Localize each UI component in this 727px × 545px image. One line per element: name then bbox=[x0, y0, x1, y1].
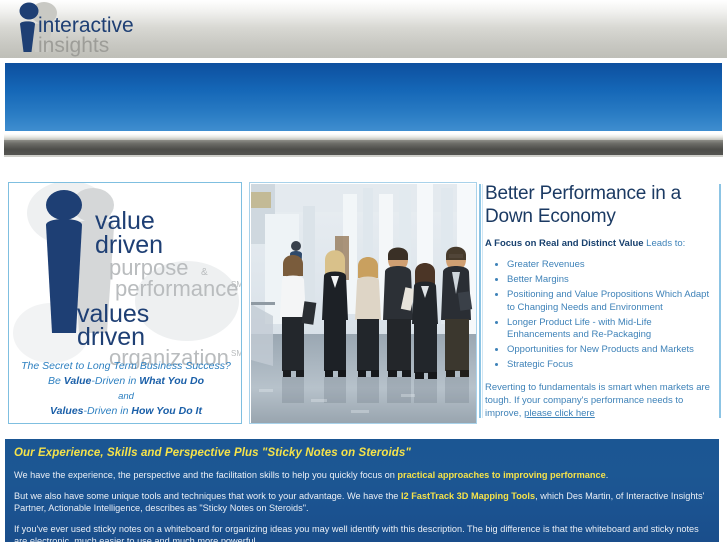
list-item: Longer Product Life - with Mid-Life Enha… bbox=[507, 317, 715, 342]
corridor-photo-panel bbox=[249, 182, 477, 424]
tagline-line-4: Values-Driven in How You Do It bbox=[9, 404, 242, 419]
panel-left-rule bbox=[479, 184, 481, 418]
site-logo[interactable]: interactive insights bbox=[4, 0, 134, 58]
list-item: Strategic Focus bbox=[507, 359, 715, 372]
value-driven-tagline: The Secret to Long Term Business Success… bbox=[9, 359, 242, 419]
value-driven-graphic: value driven purpose & performance SM va… bbox=[9, 183, 242, 369]
para1-b: . bbox=[606, 470, 609, 480]
experience-paragraph-1: We have the experience, the perspective … bbox=[14, 469, 710, 481]
tagline-4-a: Values bbox=[50, 405, 83, 417]
tagline-4-b: -Driven in bbox=[84, 405, 132, 417]
experience-section: Our Experience, Skills and Perspective P… bbox=[4, 438, 720, 543]
list-item: Better Margins bbox=[507, 274, 715, 287]
list-item: Greater Revenues bbox=[507, 259, 715, 272]
list-item: Positioning and Value Propositions Which… bbox=[507, 289, 715, 314]
header-nav-bar bbox=[4, 140, 723, 157]
tagline-line-1: The Secret to Long Term Business Success… bbox=[9, 359, 242, 374]
performance-footer-text: Reverting to fundamentals is smart when … bbox=[485, 382, 710, 419]
corridor-photo bbox=[251, 184, 477, 424]
para1-bold: practical approaches to improving perfor… bbox=[397, 470, 605, 480]
tagline-line-2: Be Value-Driven in What You Do bbox=[9, 374, 242, 389]
tagline-4-c: How You Do It bbox=[131, 405, 202, 417]
experience-heading: Our Experience, Skills and Perspective P… bbox=[14, 447, 710, 459]
list-item: Opportunities for New Products and Marke… bbox=[507, 344, 715, 357]
para1-a: We have the experience, the perspective … bbox=[14, 470, 397, 480]
tagline-2-b: Value bbox=[64, 375, 92, 387]
performance-panel: Better Performance in a Down Economy A F… bbox=[479, 178, 721, 424]
para2-a: But we also have some unique tools and t… bbox=[14, 491, 401, 501]
tagline-2-c: -Driven in bbox=[91, 375, 139, 387]
value-driven-panel: value driven purpose & performance SM va… bbox=[8, 182, 242, 424]
benefits-list: Greater Revenues Better Margins Position… bbox=[485, 259, 715, 372]
panel-right-rule bbox=[719, 184, 721, 418]
performance-panel-content: Better Performance in a Down Economy A F… bbox=[485, 182, 715, 420]
vd-sm-1: SM bbox=[231, 280, 242, 289]
panel-left-rule-inner bbox=[482, 184, 483, 418]
performance-lead-rest: Leads to: bbox=[644, 238, 686, 249]
experience-paragraph-2: But we also have some unique tools and t… bbox=[14, 490, 710, 514]
panels-row: value driven purpose & performance SM va… bbox=[0, 178, 727, 428]
performance-lead: A Focus on Real and Distinct Value Leads… bbox=[485, 237, 715, 250]
experience-paragraph-3: If you've ever used sticky notes on a wh… bbox=[14, 523, 710, 543]
tagline-line-3: and bbox=[9, 389, 242, 404]
tagline-2-a: Be bbox=[48, 375, 64, 387]
performance-footer: Reverting to fundamentals is smart when … bbox=[485, 381, 715, 420]
page-title: Better Performance in a Down Economy bbox=[485, 182, 715, 228]
svg-text:insights: insights bbox=[38, 34, 109, 57]
tagline-2-d: What You Do bbox=[139, 375, 204, 387]
vd-line-performance: performance bbox=[115, 276, 239, 301]
vd-sm-2: SM bbox=[231, 349, 242, 358]
please-click-here-link[interactable]: please click here bbox=[524, 408, 595, 419]
header-blue-banner bbox=[4, 62, 723, 132]
performance-lead-bold: A Focus on Real and Distinct Value bbox=[485, 238, 644, 249]
site-header: interactive insights bbox=[0, 0, 727, 160]
para2-bold: I2 FastTrack 3D Mapping Tools bbox=[401, 491, 535, 501]
